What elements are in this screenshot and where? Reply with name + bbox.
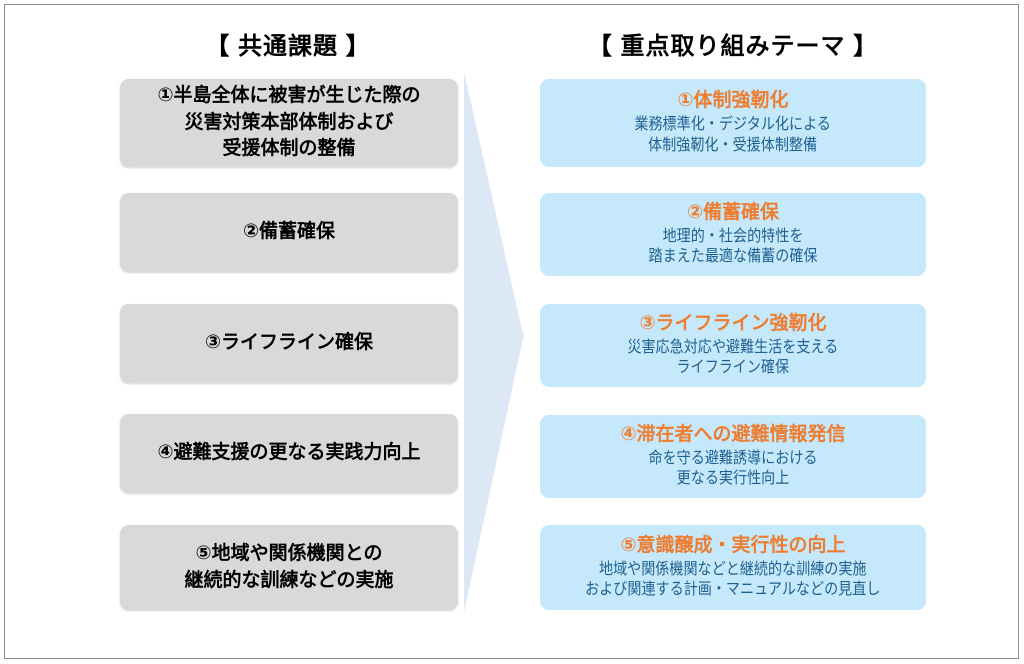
priority-theme-3-body: 災害応急対応や避難生活を支える ライフライン確保 [628,338,839,380]
priority-theme-box-2[interactable]: ②備蓄確保 地理的・社会的特性を 踏まえた最適な備蓄の確保 [540,193,926,276]
diagram-canvas: 【 共通課題 】 【 重点取り組みテーマ 】 ①半島全体に被害が生じた際の 災害… [0,0,1024,664]
priority-theme-4-title: ④滞在者への避難情報発信 [620,423,845,447]
priority-theme-box-5[interactable]: ⑤意識醸成・実行性の向上 地域や関係機関などと継続的な訓練の実施 および関連する… [540,525,926,610]
priority-theme-1-line-2: 体制強靭化・受援体制整備 [635,136,831,157]
priority-theme-2-body: 地理的・社会的特性を 踏まえた最適な備蓄の確保 [649,227,818,269]
common-issue-box-4[interactable]: ④避難支援の更なる実践力向上 [120,414,458,493]
priority-theme-4-body: 命を守る避難誘導における 更なる実行性向上 [649,449,818,491]
common-issue-4-line-1: ④避難支援の更なる実践力向上 [157,440,420,467]
right-arrow-icon [458,72,530,612]
priority-theme-3-line-2: ライフライン確保 [628,358,839,379]
priority-theme-2-line-2: 踏まえた最適な備蓄の確保 [649,247,818,268]
priority-theme-2-line-1: 地理的・社会的特性を [649,227,818,248]
common-issue-1-line-1: ①半島全体に被害が生じた際の [157,83,420,110]
common-issue-box-1[interactable]: ①半島全体に被害が生じた際の 災害対策本部体制および 受援体制の整備 [120,79,458,167]
common-issue-1-line-3: 受援体制の整備 [222,136,355,163]
priority-theme-1-title: ①体制強靭化 [677,89,788,113]
priority-theme-4-line-2: 更なる実行性向上 [649,469,818,490]
priority-theme-3-title: ③ライフライン強靭化 [639,312,826,336]
priority-theme-5-line-2: および関連する計画・マニュアルなどの見直し [585,580,880,601]
priority-theme-1-line-1: 業務標準化・デジタル化による [635,115,831,136]
priority-theme-5-body: 地域や関係機関などと継続的な訓練の実施 および関連する計画・マニュアルなどの見直… [585,560,880,602]
priority-theme-5-title: ⑤意識醸成・実行性の向上 [620,534,845,558]
common-issue-box-3[interactable]: ③ライフライン確保 [120,304,458,383]
common-issue-5-line-2: 継続的な訓練などの実施 [184,568,393,595]
priority-theme-2-title: ②備蓄確保 [687,201,779,225]
priority-theme-1-body: 業務標準化・デジタル化による 体制強靭化・受援体制整備 [635,115,831,157]
priority-theme-box-4[interactable]: ④滞在者への避難情報発信 命を守る避難誘導における 更なる実行性向上 [540,415,926,498]
priority-theme-5-line-1: 地域や関係機関などと継続的な訓練の実施 [585,560,880,581]
priority-theme-3-line-1: 災害応急対応や避難生活を支える [628,338,839,359]
column-header-common-issues: 【 共通課題 】 [108,26,468,61]
priority-theme-4-line-1: 命を守る避難誘導における [649,449,818,470]
column-header-priority-themes: 【 重点取り組みテーマ 】 [538,26,928,61]
common-issue-box-2[interactable]: ②備蓄確保 [120,193,458,272]
common-issue-1-line-2: 災害対策本部体制および [184,110,393,137]
common-issue-2-line-1: ②備蓄確保 [243,219,335,246]
common-issue-5-line-1: ⑤地域や関係機関との [196,541,383,568]
priority-theme-box-1[interactable]: ①体制強靭化 業務標準化・デジタル化による 体制強靭化・受援体制整備 [540,79,926,167]
common-issue-box-5[interactable]: ⑤地域や関係機関との 継続的な訓練などの実施 [120,525,458,610]
common-issue-3-line-1: ③ライフライン確保 [205,330,373,357]
priority-theme-box-3[interactable]: ③ライフライン強靭化 災害応急対応や避難生活を支える ライフライン確保 [540,304,926,387]
